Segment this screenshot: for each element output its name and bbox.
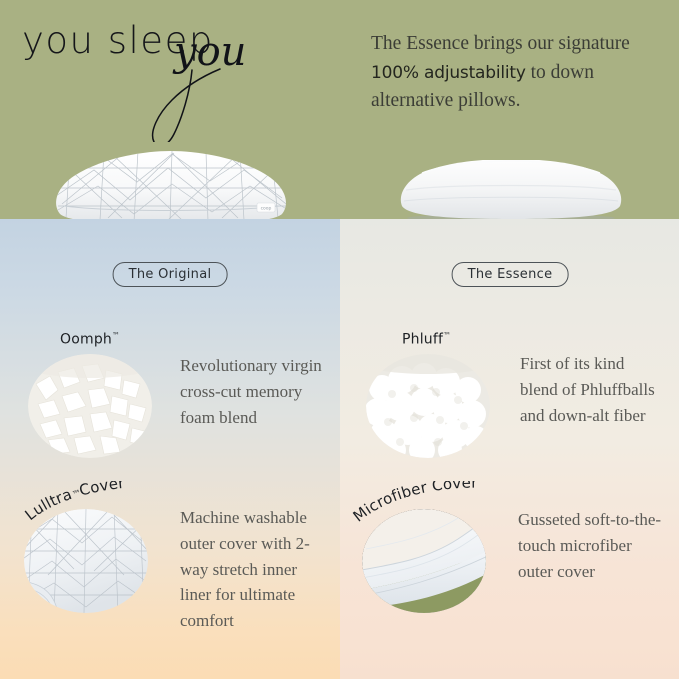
script-flourish [153,69,220,142]
feature-lulltra-description: Machine washable outer cover with 2-way … [180,505,330,634]
feature-phluff-label-text: Phluff [402,332,443,348]
feature-microfiber-description: Gusseted soft-to-the-touch microfiber ou… [518,507,663,584]
intro-accent-text: 100% adjustability [371,63,526,83]
feature-phluff-description: First of its kind blend of Phluffballs a… [520,351,660,428]
quilted-cover-photo [24,509,148,613]
intro-text-before: The Essence brings our signature [371,33,630,54]
essence-pillow [392,160,630,222]
microfiber-corner-photo [362,509,486,613]
feature-oomph-label: Oomph™ [60,331,120,348]
fiber-balls-photo [366,354,490,458]
feature-oomph: Oomph™ [0,319,340,459]
panel-original: The Original Oomph™ [0,219,340,679]
pillow-comparison-infographic: you sleep you The Essence brings our sig… [0,0,679,679]
trademark-icon: ™ [112,331,120,340]
foam-chunks-photo [28,354,152,458]
badge-the-original[interactable]: The Original [113,262,228,287]
feature-microfiber: Microfiber Cover [340,481,679,641]
feature-lulltra: Lulltra ™ Cover [0,481,340,641]
feature-oomph-description: Revolutionary virgin cross-cut memory fo… [180,353,325,430]
trademark-icon: ™ [443,331,451,340]
panel-essence: The Essence Phluff™ [340,219,679,679]
header-band: you sleep you The Essence brings our sig… [0,0,679,219]
feature-oomph-label-text: Oomph [60,332,112,348]
original-pillow: coop [42,148,300,226]
headline-plain-text: you sleep [22,22,214,59]
headline: you sleep you [22,22,352,142]
badge-the-essence[interactable]: The Essence [452,262,569,287]
svg-text:coop: coop [261,207,272,212]
intro-paragraph: The Essence brings our signature 100% ad… [371,30,656,116]
feature-phluff-label: Phluff™ [402,331,451,348]
feature-phluff: Phluff™ [340,319,679,459]
